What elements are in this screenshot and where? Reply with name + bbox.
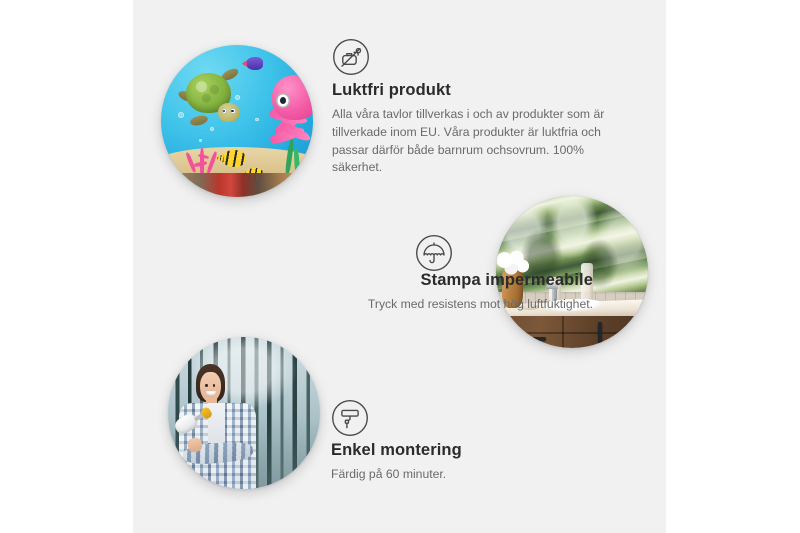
feature-title-odour-free: Luktfri produkt	[332, 80, 632, 101]
woman-figure	[174, 361, 259, 489]
infographic-screenshot: Luktfri produkt Alla våra tavlor tillver…	[0, 0, 800, 533]
yellow-fish	[222, 150, 245, 167]
feature-title-waterproof-print: Stampa impermeabile	[193, 270, 593, 291]
bubble-icon	[210, 127, 214, 131]
paint-roller-icon	[331, 399, 369, 437]
forest-mural-scene	[168, 337, 320, 489]
feature-text-waterproof-print: Stampa impermeabile Tryck med resistens …	[193, 270, 593, 314]
blue-fish	[246, 57, 263, 70]
sea-turtle	[181, 69, 242, 124]
feature-title-easy-installation: Enkel montering	[331, 440, 631, 461]
umbrella-icon	[415, 234, 453, 272]
underwater-cartoon-medallion[interactable]	[161, 45, 313, 197]
wooden-vanity	[496, 316, 648, 348]
octopus	[249, 75, 313, 154]
no-fragrance-icon	[332, 38, 370, 76]
feature-text-easy-installation: Enkel montering Färdig på 60 minuter.	[331, 440, 631, 484]
underwater-scene	[161, 45, 313, 197]
feature-text-odour-free: Luktfri produkt Alla våra tavlor tillver…	[332, 80, 632, 177]
feature-description-waterproof-print: Tryck med resistens mot hög luftfuktighe…	[193, 296, 593, 314]
woman-with-paint-roller-medallion[interactable]	[168, 337, 320, 489]
feature-description-odour-free: Alla våra tavlor tillverkas i och av pro…	[332, 106, 632, 178]
sea-foreground-strip	[161, 173, 313, 197]
feature-description-easy-installation: Färdig på 60 minuter.	[331, 466, 631, 484]
infographic-panel: Luktfri produkt Alla våra tavlor tillver…	[133, 0, 666, 533]
